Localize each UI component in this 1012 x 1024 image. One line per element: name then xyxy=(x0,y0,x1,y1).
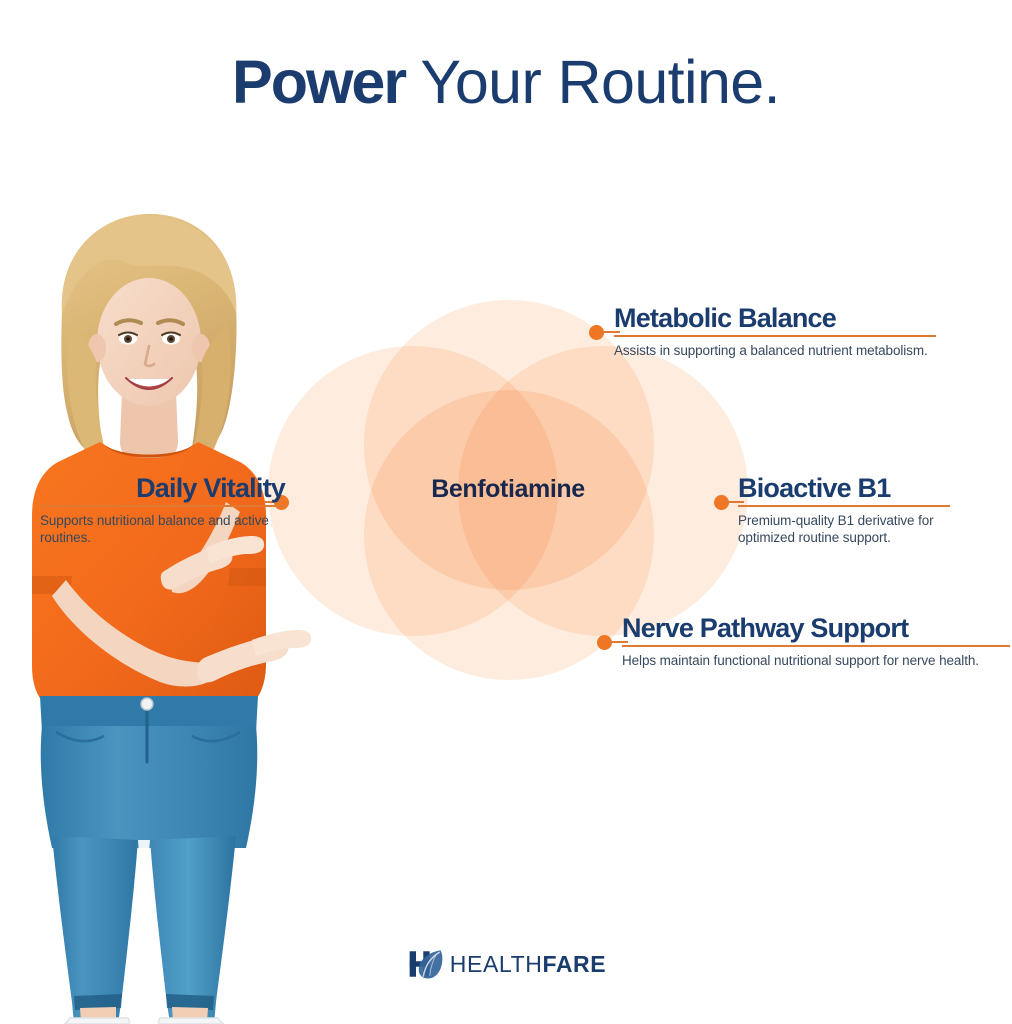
healthfare-h-leaf-logo-icon xyxy=(406,944,446,984)
feature-nerve-pathway-support: Nerve Pathway Support Helps maintain fun… xyxy=(622,612,1012,683)
feature-bioactive-b1: Bioactive B1 Premium-quality B1 derivati… xyxy=(738,472,953,560)
feature-description-daily-vitality: Supports nutritional balance and active … xyxy=(40,512,285,546)
brand-name-bold: FARE xyxy=(542,951,606,977)
page-title-bold: Power xyxy=(232,48,405,116)
feature-rule-metabolic-balance xyxy=(614,335,936,337)
page-title-regular: Your Routine. xyxy=(405,48,780,116)
model-sneaker-left xyxy=(64,1018,130,1024)
page-title: Power Your Routine. xyxy=(0,47,1012,117)
feature-title-nerve-pathway-support: Nerve Pathway Support xyxy=(622,612,1012,644)
model-jeans-button xyxy=(141,698,153,710)
feature-description-metabolic-balance: Assists in supporting a balanced nutrien… xyxy=(614,342,944,359)
model-sneaker-right xyxy=(159,1018,225,1024)
venn-center-label: Benfotiamine xyxy=(268,475,748,504)
brand-name-light: HEALTH xyxy=(450,951,543,977)
feature-title-daily-vitality: Daily Vitality xyxy=(40,472,285,504)
model-sleeve-right xyxy=(228,568,266,586)
feature-rule-nerve-pathway-support xyxy=(622,645,1010,647)
feature-metabolic-balance: Metabolic Balance Assists in supporting … xyxy=(614,302,944,373)
feature-rule-bioactive-b1 xyxy=(738,505,950,507)
feature-rule-daily-vitality xyxy=(40,505,285,507)
model-jeans-hip xyxy=(41,726,258,848)
feature-description-nerve-pathway-support: Helps maintain functional nutritional su… xyxy=(622,652,1012,669)
venn-circle-bottom xyxy=(364,390,654,680)
feature-title-bioactive-b1: Bioactive B1 xyxy=(738,472,953,504)
feature-description-bioactive-b1: Premium-quality B1 derivative for optimi… xyxy=(738,512,953,546)
brand-name: HEALTHFARE xyxy=(450,951,606,977)
infographic-poster: Power Your Routine. xyxy=(0,0,1012,1024)
feature-title-metabolic-balance: Metabolic Balance xyxy=(614,302,944,334)
model-photo xyxy=(0,196,330,1024)
feature-daily-vitality: Daily Vitality Supports nutritional bala… xyxy=(40,472,285,560)
